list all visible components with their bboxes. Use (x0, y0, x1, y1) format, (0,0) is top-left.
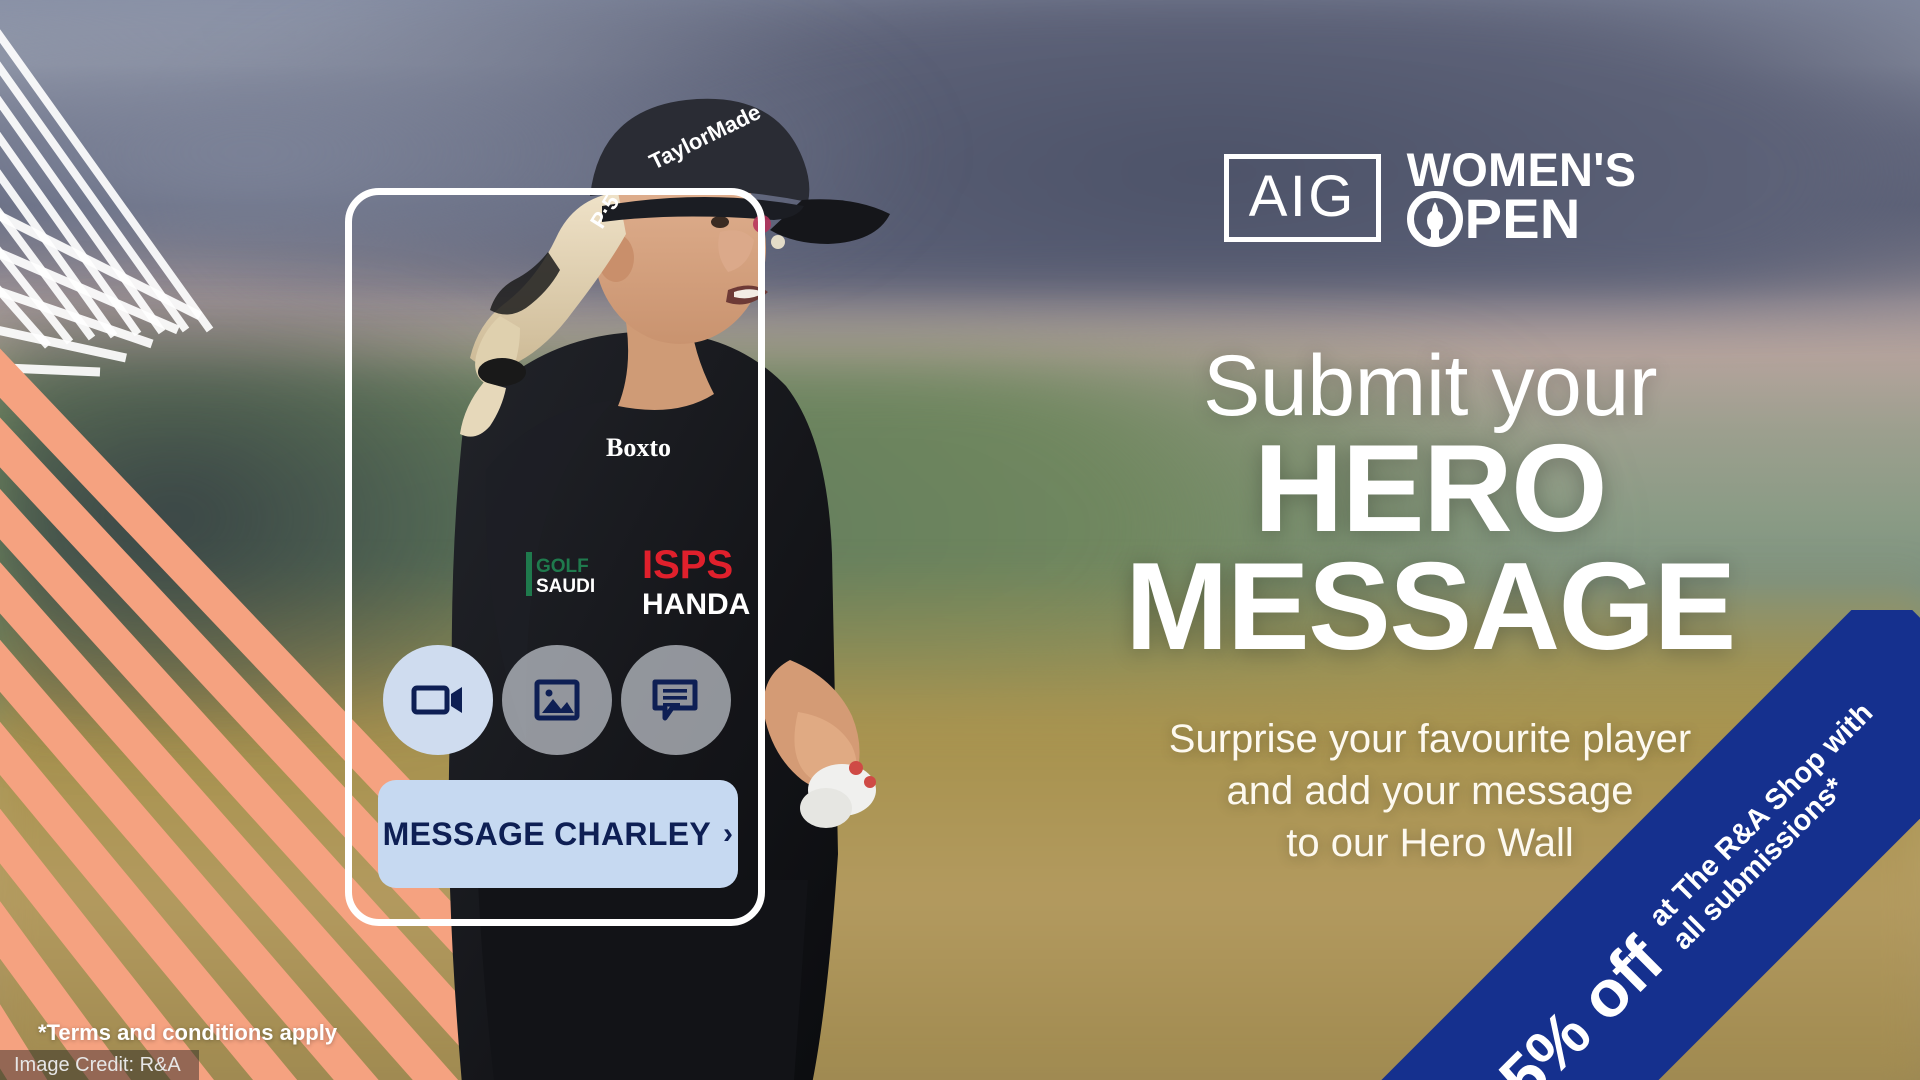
media-type-selector[interactable] (383, 642, 731, 758)
claret-jug-trophy-icon (1407, 191, 1463, 247)
headline-line-2: HERO (1000, 431, 1860, 549)
message-option-button[interactable] (621, 645, 731, 755)
ribbon-detail-line-1: at The R&A Shop with (1643, 697, 1879, 933)
cta-label: MESSAGE CHARLEY (383, 816, 711, 853)
ribbon-headline: 15% off (1462, 926, 1675, 1080)
image-icon (534, 677, 580, 723)
open-rest-text: PEN (1465, 193, 1581, 245)
headline-line-1: Submit your (1000, 343, 1860, 431)
ribbon-detail: at The R&A Shop with all submissions* (1643, 697, 1903, 957)
terms-note: *Terms and conditions apply (38, 1020, 337, 1046)
message-charley-button[interactable]: MESSAGE CHARLEY › (378, 780, 738, 888)
aig-womens-open-logo: AIG WOMEN'S PEN (1224, 148, 1636, 247)
video-option-button[interactable] (383, 645, 493, 755)
video-icon (411, 680, 465, 720)
aig-logo-box: AIG (1224, 154, 1381, 242)
image-option-button[interactable] (502, 645, 612, 755)
image-credit: Image Credit: R&A (0, 1050, 199, 1080)
womens-text: WOMEN'S (1407, 148, 1637, 191)
promo-banner: TaylorMade P·5 Boxto ISPS HANDA GOLF SAU… (0, 0, 1920, 1080)
ribbon-band: 15% off at The R&A Shop with all submiss… (1300, 610, 1920, 1080)
chevron-right-icon: › (723, 817, 733, 851)
discount-ribbon: 15% off at The R&A Shop with all submiss… (1300, 610, 1920, 1080)
message-icon (652, 677, 700, 723)
womens-open-wordmark: WOMEN'S PEN (1407, 148, 1637, 247)
aig-logo-text: AIG (1249, 168, 1356, 226)
open-text: PEN (1407, 191, 1637, 247)
